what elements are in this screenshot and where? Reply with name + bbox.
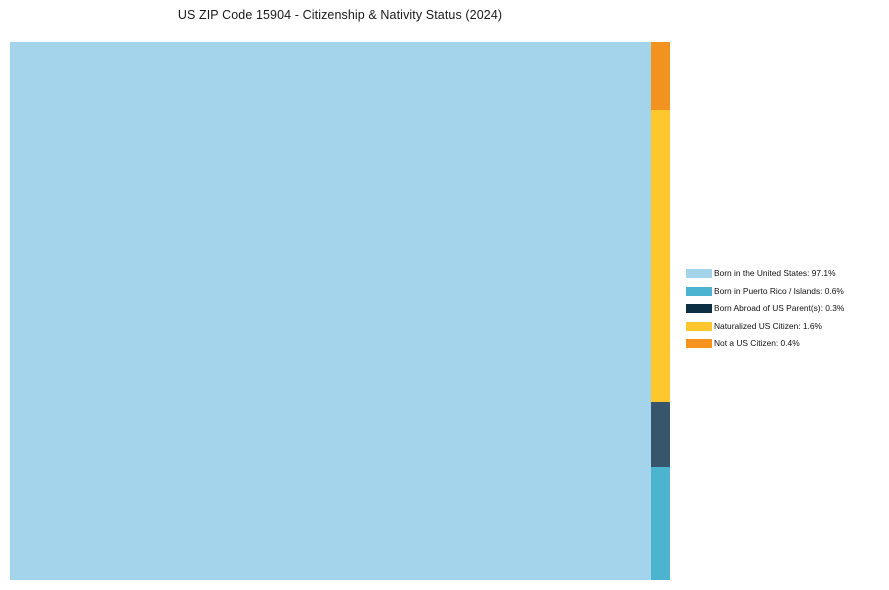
legend-item-label: Born in Puerto Rico / Islands: 0.6% [714, 284, 844, 299]
legend-swatch-icon [686, 339, 712, 348]
legend-item[interactable]: Born Abroad of US Parent(s): 0.3% [686, 301, 882, 319]
legend-item[interactable]: Not a US Citizen: 0.4% [686, 336, 882, 354]
legend-swatch-icon [686, 269, 712, 278]
mosaic-column-other-nativity-status [651, 42, 670, 580]
chart-title: US ZIP Code 15904 - Citizenship & Nativi… [0, 8, 680, 22]
legend-item[interactable]: Naturalized US Citizen: 1.6% [686, 319, 882, 337]
plot-area [10, 42, 670, 580]
legend-item-label: Born in the United States: 97.1% [714, 266, 836, 281]
mosaic-tile-born-abroad-of-us-parents[interactable] [651, 402, 670, 467]
legend-swatch-icon [686, 287, 712, 296]
legend-item-label: Born Abroad of US Parent(s): 0.3% [714, 301, 844, 316]
legend-swatch-icon [686, 304, 712, 313]
legend-item[interactable]: Born in Puerto Rico / Islands: 0.6% [686, 284, 882, 302]
mosaic-tile-not-a-us-citizen[interactable] [651, 42, 670, 110]
mosaic-tile-naturalized-us-citizen[interactable] [651, 110, 670, 402]
legend-item-label: Naturalized US Citizen: 1.6% [714, 319, 822, 334]
mosaic-column-born-in-the-united-states [10, 42, 651, 580]
legend-item[interactable]: Born in the United States: 97.1% [686, 266, 882, 284]
legend-swatch-icon [686, 322, 712, 331]
legend-item-label: Not a US Citizen: 0.4% [714, 336, 800, 351]
mosaic-tile-born-in-puerto-rico-islands[interactable] [651, 467, 670, 580]
mosaic-tile-born-in-the-united-states[interactable] [10, 42, 651, 580]
citizenship-nativity-chart: US ZIP Code 15904 - Citizenship & Nativi… [0, 0, 889, 590]
chart-legend: Born in the United States: 97.1%Born in … [686, 266, 882, 354]
